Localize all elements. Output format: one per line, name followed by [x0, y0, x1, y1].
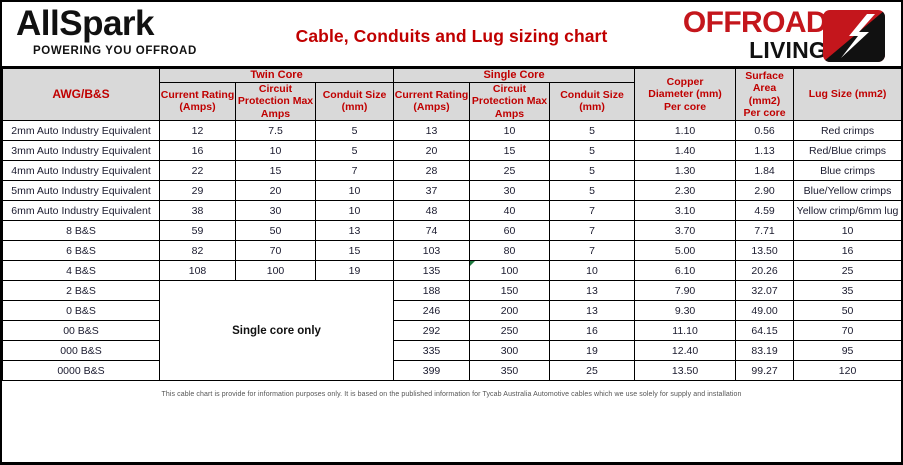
column-group-single-core: Single Core: [394, 69, 635, 83]
table-row: 000 B&S 335 300 19 12.40 83.19 95: [3, 341, 902, 361]
cell-single-protection: 200: [470, 301, 550, 321]
column-header-twin-conduit-size: Conduit Size (mm): [316, 82, 394, 121]
table-header-group-row: AWG/B&S Twin Core Single Core Copper Dia…: [3, 69, 902, 83]
twin-current-line-1: Current Rating: [160, 89, 235, 102]
single-conduit-line-2: (mm): [550, 101, 634, 114]
twin-protection-line-3: Amps: [236, 108, 315, 121]
page-footer: This cable chart is provide for informat…: [2, 381, 901, 407]
cell-twin-current: 108: [160, 261, 236, 281]
row-label: 4mm Auto Industry Equivalent: [3, 161, 160, 181]
cell-single-current: 246: [394, 301, 470, 321]
row-label: 8 B&S: [3, 221, 160, 241]
cell-twin-protection: 70: [236, 241, 316, 261]
living-word: LIVING: [657, 38, 827, 62]
cell-single-current: 292: [394, 321, 470, 341]
cell-twin-current: 29: [160, 181, 236, 201]
cell-single-current: 48: [394, 201, 470, 221]
column-header-twin-current-rating: Current Rating (Amps): [160, 82, 236, 121]
table-row: 8 B&S 59 50 13 74 60 7 3.70 7.71 10: [3, 221, 902, 241]
column-header-lug-size: Lug Size (mm2): [794, 69, 902, 121]
cell-lug-size: 95: [794, 341, 902, 361]
cell-copper-diameter: 9.30: [635, 301, 736, 321]
cell-lug-size: 120: [794, 361, 902, 381]
cell-copper-diameter: 11.10: [635, 321, 736, 341]
cell-single-current: 20: [394, 141, 470, 161]
cell-surface-area: 49.00: [736, 301, 794, 321]
cell-surface-area: 2.90: [736, 181, 794, 201]
row-label: 3mm Auto Industry Equivalent: [3, 141, 160, 161]
cell-single-conduit: 10: [550, 261, 635, 281]
twin-conduit-line-1: Conduit Size: [316, 89, 393, 102]
page-header: AllSpark POWERING YOU OFFROAD Cable, Con…: [2, 2, 901, 68]
cell-single-protection: 30: [470, 181, 550, 201]
cell-copper-diameter: 7.90: [635, 281, 736, 301]
twin-current-line-2: (Amps): [160, 101, 235, 114]
cell-single-conduit: 16: [550, 321, 635, 341]
cell-single-protection: 100: [470, 261, 550, 281]
table-row: 5mm Auto Industry Equivalent 29 20 10 37…: [3, 181, 902, 201]
cell-lug-size: 10: [794, 221, 902, 241]
cable-sizing-table: AWG/B&S Twin Core Single Core Copper Dia…: [2, 68, 902, 381]
cell-single-protection: 150: [470, 281, 550, 301]
cell-twin-current: 59: [160, 221, 236, 241]
single-protection-line-2: Protection Max: [470, 95, 549, 108]
cell-lug-size: 16: [794, 241, 902, 261]
column-header-single-circuit-protection: Circuit Protection Max Amps: [470, 82, 550, 121]
cell-lug-size: Yellow crimp/6mm lug: [794, 201, 902, 221]
row-label: 5mm Auto Industry Equivalent: [3, 181, 160, 201]
cell-single-current: 37: [394, 181, 470, 201]
copper-diameter-line-1: Copper: [635, 76, 735, 89]
cell-single-conduit: 5: [550, 141, 635, 161]
cell-single-conduit: 7: [550, 241, 635, 261]
cell-single-current: 188: [394, 281, 470, 301]
cell-single-conduit: 5: [550, 161, 635, 181]
cell-twin-protection: 7.5: [236, 121, 316, 141]
column-header-twin-circuit-protection: Circuit Protection Max Amps: [236, 82, 316, 121]
cell-copper-diameter: 6.10: [635, 261, 736, 281]
row-label: 0 B&S: [3, 301, 160, 321]
column-header-awg: AWG/B&S: [3, 69, 160, 121]
cell-lug-size: 35: [794, 281, 902, 301]
offroad-word: OFFROAD: [657, 8, 827, 38]
cell-twin-protection: 20: [236, 181, 316, 201]
cell-twin-protection: 50: [236, 221, 316, 241]
cell-twin-conduit: 15: [316, 241, 394, 261]
cell-single-protection: 10: [470, 121, 550, 141]
cell-single-conduit: 5: [550, 181, 635, 201]
single-core-only-note: Single core only: [160, 281, 394, 381]
twin-protection-line-2: Protection Max: [236, 95, 315, 108]
cell-surface-area: 64.15: [736, 321, 794, 341]
cell-copper-diameter: 13.50: [635, 361, 736, 381]
cell-surface-area: 7.71: [736, 221, 794, 241]
column-header-surface-area: Surface Area (mm2) Per core: [736, 69, 794, 121]
cell-lug-size: 50: [794, 301, 902, 321]
table-row: 6 B&S 82 70 15 103 80 7 5.00 13.50 16: [3, 241, 902, 261]
cell-twin-current: 82: [160, 241, 236, 261]
row-label: 4 B&S: [3, 261, 160, 281]
cell-twin-conduit: 10: [316, 181, 394, 201]
cell-single-conduit: 7: [550, 201, 635, 221]
cell-surface-area: 20.26: [736, 261, 794, 281]
cell-single-protection: 300: [470, 341, 550, 361]
row-label: 000 B&S: [3, 341, 160, 361]
offroad-living-wordmark: OFFROAD LIVING: [657, 8, 827, 62]
lightning-bolt-icon: [823, 10, 885, 62]
column-header-single-conduit-size: Conduit Size (mm): [550, 82, 635, 121]
surface-area-line-2: (mm2): [736, 95, 793, 108]
cell-twin-current: 22: [160, 161, 236, 181]
cell-single-current: 103: [394, 241, 470, 261]
cell-single-conduit: 13: [550, 301, 635, 321]
cell-copper-diameter: 12.40: [635, 341, 736, 361]
surface-area-line-3: Per core: [736, 107, 793, 120]
row-label: 00 B&S: [3, 321, 160, 341]
cell-twin-protection: 30: [236, 201, 316, 221]
cell-twin-conduit: 7: [316, 161, 394, 181]
cell-single-protection: 40: [470, 201, 550, 221]
cell-single-conduit: 5: [550, 121, 635, 141]
cell-lug-size: 25: [794, 261, 902, 281]
cell-lug-size: Blue crimps: [794, 161, 902, 181]
cell-surface-area: 4.59: [736, 201, 794, 221]
cell-single-conduit: 13: [550, 281, 635, 301]
comment-marker-icon: [470, 261, 475, 266]
column-header-single-current-rating: Current Rating (Amps): [394, 82, 470, 121]
cell-twin-protection: 10: [236, 141, 316, 161]
cell-single-conduit: 19: [550, 341, 635, 361]
single-protection-line-3: Amps: [470, 108, 549, 121]
cell-surface-area: 99.27: [736, 361, 794, 381]
cell-lug-size: 70: [794, 321, 902, 341]
cell-single-current: 28: [394, 161, 470, 181]
cell-copper-diameter: 3.10: [635, 201, 736, 221]
cell-single-protection: 80: [470, 241, 550, 261]
cell-surface-area: 1.84: [736, 161, 794, 181]
cell-single-protection: 15: [470, 141, 550, 161]
table-row: 00 B&S 292 250 16 11.10 64.15 70: [3, 321, 902, 341]
cell-single-protection: 60: [470, 221, 550, 241]
copper-diameter-line-2: Diameter (mm): [635, 88, 735, 101]
cell-surface-area: 0.56: [736, 121, 794, 141]
offroad-living-logo: OFFROAD LIVING: [663, 8, 893, 62]
cell-lug-size: Red/Blue crimps: [794, 141, 902, 161]
cell-surface-area: 83.19: [736, 341, 794, 361]
single-conduit-line-1: Conduit Size: [550, 89, 634, 102]
cell-copper-diameter: 1.10: [635, 121, 736, 141]
cell-copper-diameter: 1.40: [635, 141, 736, 161]
cell-single-current: 135: [394, 261, 470, 281]
cell-single-protection-value: 100: [501, 265, 519, 277]
cell-surface-area: 13.50: [736, 241, 794, 261]
cell-copper-diameter: 2.30: [635, 181, 736, 201]
surface-area-line-1: Surface Area: [736, 70, 793, 95]
disclaimer-text: This cable chart is provide for informat…: [161, 391, 741, 398]
cell-twin-current: 16: [160, 141, 236, 161]
cell-single-current: 335: [394, 341, 470, 361]
cell-single-conduit: 25: [550, 361, 635, 381]
cell-single-current: 399: [394, 361, 470, 381]
cell-single-protection: 25: [470, 161, 550, 181]
cell-single-current: 13: [394, 121, 470, 141]
table-header: AWG/B&S Twin Core Single Core Copper Dia…: [3, 69, 902, 121]
table-row: 0 B&S 246 200 13 9.30 49.00 50: [3, 301, 902, 321]
table-body: 2mm Auto Industry Equivalent 12 7.5 5 13…: [3, 121, 902, 381]
cell-copper-diameter: 1.30: [635, 161, 736, 181]
row-label: 6mm Auto Industry Equivalent: [3, 201, 160, 221]
table-row: 3mm Auto Industry Equivalent 16 10 5 20 …: [3, 141, 902, 161]
cell-surface-area: 1.13: [736, 141, 794, 161]
row-label: 2mm Auto Industry Equivalent: [3, 121, 160, 141]
cell-twin-current: 12: [160, 121, 236, 141]
single-current-line-2: (Amps): [394, 101, 469, 114]
cell-twin-protection: 15: [236, 161, 316, 181]
single-current-line-1: Current Rating: [394, 89, 469, 102]
cell-twin-conduit: 5: [316, 141, 394, 161]
cell-twin-current: 38: [160, 201, 236, 221]
table-row: 4 B&S 108 100 19 135 100 10 6.10 20.26 2…: [3, 261, 902, 281]
cell-single-conduit: 7: [550, 221, 635, 241]
cell-lug-size: Red crimps: [794, 121, 902, 141]
row-label: 0000 B&S: [3, 361, 160, 381]
row-label: 2 B&S: [3, 281, 160, 301]
cell-twin-conduit: 10: [316, 201, 394, 221]
copper-diameter-line-3: Per core: [635, 101, 735, 114]
cell-twin-protection: 100: [236, 261, 316, 281]
cell-copper-diameter: 3.70: [635, 221, 736, 241]
cable-sizing-chart-page: AllSpark POWERING YOU OFFROAD Cable, Con…: [0, 0, 903, 465]
table-row: 2mm Auto Industry Equivalent 12 7.5 5 13…: [3, 121, 902, 141]
table-row: 6mm Auto Industry Equivalent 38 30 10 48…: [3, 201, 902, 221]
cell-surface-area: 32.07: [736, 281, 794, 301]
column-group-twin-core: Twin Core: [160, 69, 394, 83]
cell-twin-conduit: 5: [316, 121, 394, 141]
table-row: 4mm Auto Industry Equivalent 22 15 7 28 …: [3, 161, 902, 181]
table-row: 2 B&S Single core only 188 150 13 7.90 3…: [3, 281, 902, 301]
cell-twin-conduit: 19: [316, 261, 394, 281]
cell-single-protection: 250: [470, 321, 550, 341]
table-row: 0000 B&S 399 350 25 13.50 99.27 120: [3, 361, 902, 381]
cell-copper-diameter: 5.00: [635, 241, 736, 261]
cell-single-current: 74: [394, 221, 470, 241]
twin-protection-line-1: Circuit: [236, 83, 315, 96]
cell-lug-size: Blue/Yellow crimps: [794, 181, 902, 201]
row-label: 6 B&S: [3, 241, 160, 261]
single-protection-line-1: Circuit: [470, 83, 549, 96]
column-header-copper-diameter: Copper Diameter (mm) Per core: [635, 69, 736, 121]
cell-twin-conduit: 13: [316, 221, 394, 241]
twin-conduit-line-2: (mm): [316, 101, 393, 114]
cell-single-protection: 350: [470, 361, 550, 381]
